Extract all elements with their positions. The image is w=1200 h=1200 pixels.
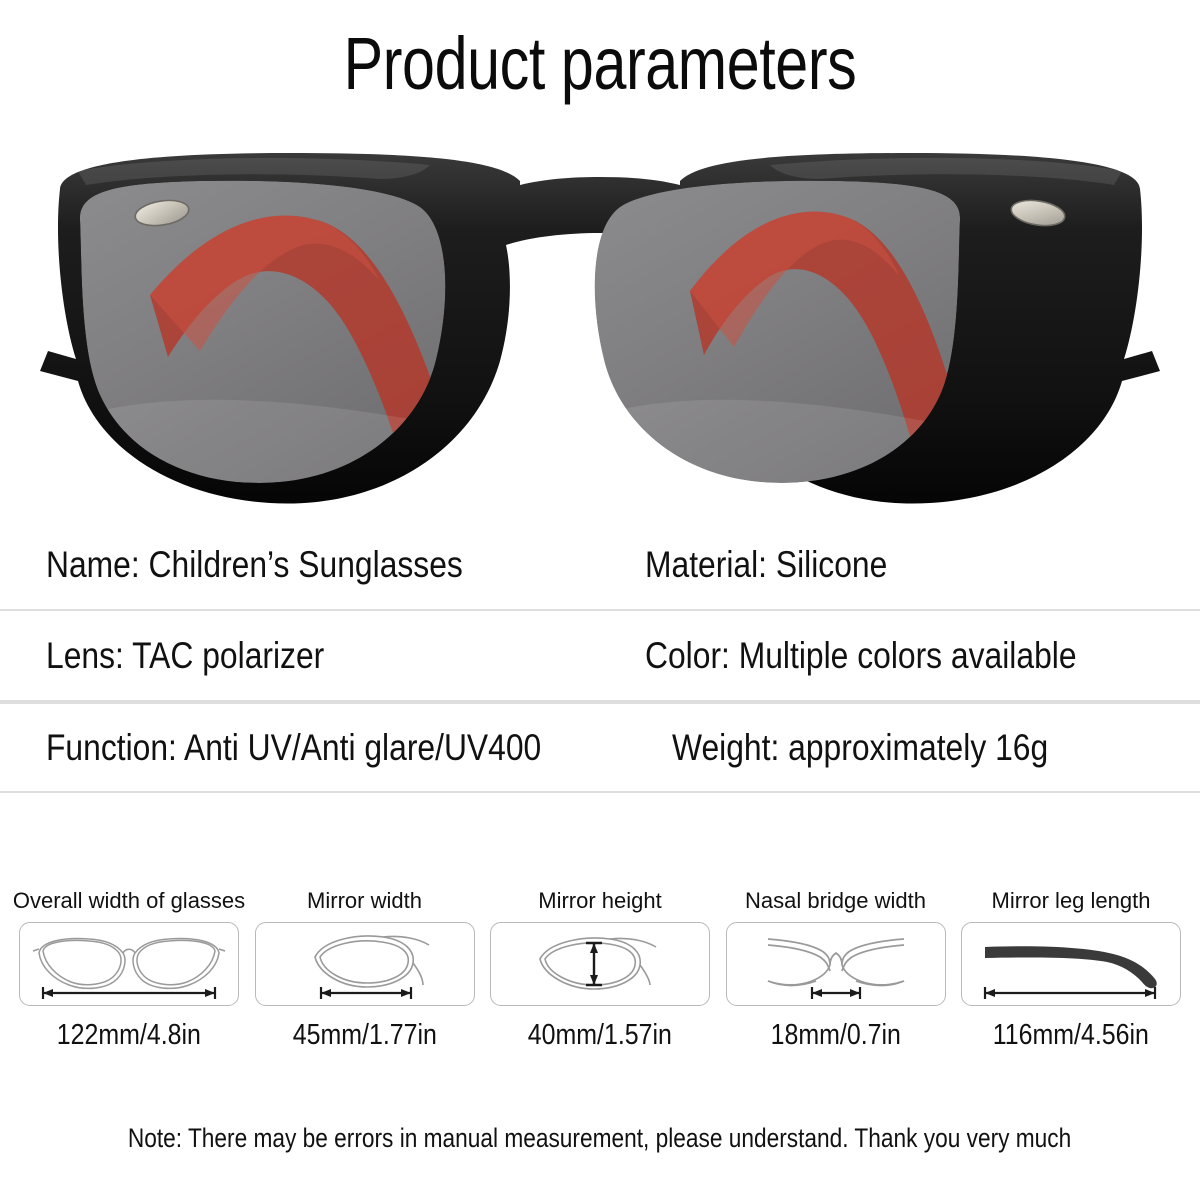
- measurement-nasal-bridge: Nasal bridge width: [725, 888, 947, 1052]
- measurement-overall-width: Overall width of glasses: [18, 888, 240, 1052]
- glasses-front-width-icon: [27, 927, 231, 1001]
- nose-bridge-width-icon: [734, 927, 938, 1001]
- spec-row: Name: Children’s Sunglasses Material: Si…: [0, 520, 1200, 611]
- spec-weight: Weight: approximately 16g: [672, 726, 1048, 770]
- measurement-row: Overall width of glasses: [0, 888, 1200, 1052]
- spec-material: Material: Silicone: [645, 543, 887, 587]
- measurement-diagram-box: [961, 922, 1181, 1006]
- temple-arm-length-icon: [969, 927, 1173, 1001]
- dimension-arrow: [586, 943, 602, 985]
- measurement-value: 122mm/4.8in: [57, 1018, 201, 1052]
- measurement-label: Mirror width: [307, 888, 422, 914]
- measurement-label: Mirror height: [538, 888, 661, 914]
- spec-table: Name: Children’s Sunglasses Material: Si…: [0, 520, 1200, 793]
- dimension-arrow: [43, 987, 215, 999]
- spec-function: Function: Anti UV/Anti glare/UV400: [46, 726, 541, 770]
- measurement-value: 40mm/1.57in: [528, 1018, 672, 1052]
- measurement-diagram-box: [255, 922, 475, 1006]
- footer-note-text: Note: There may be errors in manual meas…: [128, 1122, 1071, 1154]
- dimension-arrow: [812, 987, 860, 999]
- measurement-value: 18mm/0.7in: [770, 1018, 900, 1052]
- measurement-label: Nasal bridge width: [745, 888, 926, 914]
- measurement-diagram-box: [726, 922, 946, 1006]
- measurement-temple-length: Mirror leg length 116mm/4.56in: [960, 888, 1182, 1052]
- single-lens-height-icon: [498, 927, 702, 1001]
- measurement-label: Overall width of glasses: [13, 888, 245, 914]
- measurement-diagram-box: [19, 922, 239, 1006]
- measurement-mirror-width: Mirror width: [254, 888, 476, 1052]
- sunglasses-illustration: [0, 145, 1200, 525]
- spec-row: Lens: TAC polarizer Color: Multiple colo…: [0, 611, 1200, 702]
- page-title: Product parameters: [120, 22, 1080, 106]
- product-photo: [0, 145, 1200, 525]
- dimension-arrow: [321, 987, 411, 999]
- spec-row: Function: Anti UV/Anti glare/UV400 Weigh…: [0, 702, 1200, 793]
- product-parameters-page: Product parameters: [0, 0, 1200, 1200]
- spec-lens: Lens: TAC polarizer: [46, 634, 324, 678]
- single-lens-width-icon: [263, 927, 467, 1001]
- measurement-value: 45mm/1.77in: [292, 1018, 436, 1052]
- measurement-diagram-box: [490, 922, 710, 1006]
- footer-note: Note: There may be errors in manual meas…: [0, 1122, 1200, 1154]
- measurement-value: 116mm/4.56in: [993, 1018, 1149, 1052]
- measurement-mirror-height: Mirror height: [489, 888, 711, 1052]
- dimension-arrow: [985, 987, 1155, 999]
- measurement-label: Mirror leg length: [992, 888, 1151, 914]
- spec-color: Color: Multiple colors available: [645, 634, 1077, 678]
- spec-name: Name: Children’s Sunglasses: [46, 543, 463, 587]
